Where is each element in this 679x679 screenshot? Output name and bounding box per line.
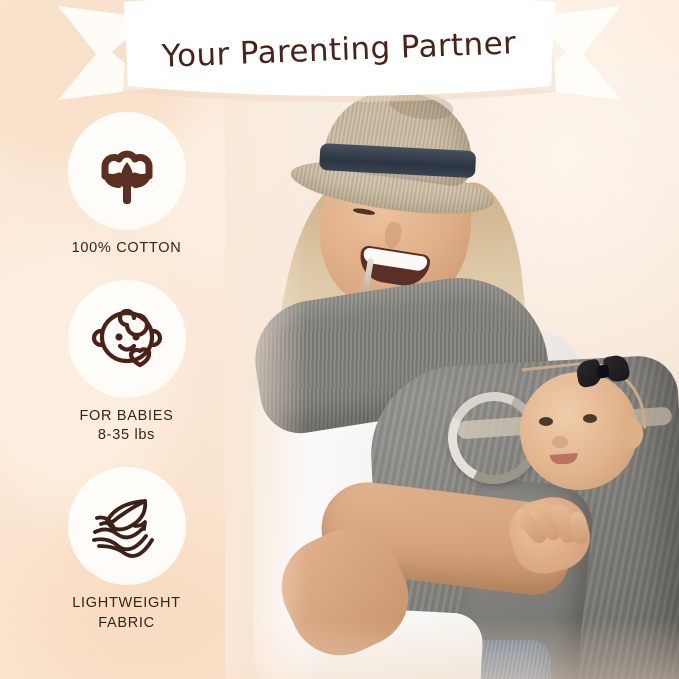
- feather-fabric-icon: [85, 494, 169, 558]
- feature-label: FOR BABIES 8-35 lbs: [79, 407, 173, 445]
- banner-panel: [124, 0, 555, 96]
- baby-eye: [539, 417, 553, 426]
- feature-badge: [68, 280, 186, 398]
- lifestyle-photo: [225, 62, 679, 679]
- headline-banner: Your Parenting Partner: [0, 0, 679, 112]
- bow-knot: [596, 364, 610, 379]
- feature-label: 100% COTTON: [72, 239, 182, 258]
- feature-item-babies: FOR BABIES 8-35 lbs: [24, 280, 229, 445]
- baby-nose: [552, 436, 568, 448]
- feature-label-line2: 8-35 lbs: [79, 426, 173, 445]
- feature-label-line1: LIGHTWEIGHT: [72, 595, 180, 611]
- feature-item-cotton: 100% COTTON: [24, 112, 229, 258]
- feature-badge: [68, 467, 186, 585]
- baby-eye: [583, 414, 597, 423]
- feature-list: 100% COTTON: [24, 112, 229, 655]
- product-feature-poster: Your Parenting Partner: [0, 0, 679, 679]
- feature-label: LIGHTWEIGHT FABRIC: [72, 594, 180, 632]
- feature-label-line1: FOR BABIES: [79, 408, 173, 424]
- cotton-boll-icon: [88, 132, 166, 210]
- feature-badge: [68, 112, 186, 230]
- feature-label-line1: 100% COTTON: [72, 240, 182, 256]
- feature-item-lightweight: LIGHTWEIGHT FABRIC: [24, 467, 229, 632]
- baby-face-icon: [87, 303, 167, 375]
- feature-label-line2: FABRIC: [72, 614, 180, 633]
